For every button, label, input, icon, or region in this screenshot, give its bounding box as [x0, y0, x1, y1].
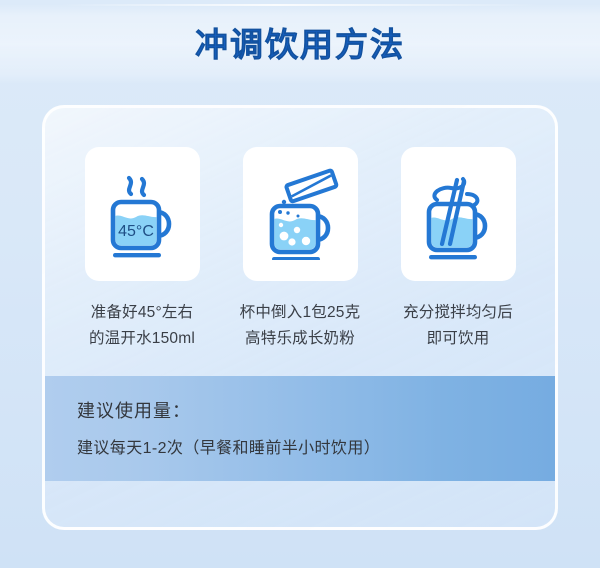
step-caption-3-line2: 即可饮用	[389, 326, 527, 352]
step-caption-1-line2: 的温开水150ml	[73, 326, 211, 352]
step-caption-3-line1: 充分搅拌均匀后	[389, 300, 527, 326]
recommended-dosage-title: 建议使用量：	[77, 396, 555, 426]
step-icon-card-3	[401, 147, 516, 281]
instructions-card: 45°C	[42, 105, 558, 530]
step-caption-1-line1: 准备好45°左右	[73, 300, 211, 326]
page-title: 冲调饮用方法	[0, 23, 600, 67]
promo-page: 冲调饮用方法	[0, 0, 600, 568]
sachet-pouring-into-mug-icon	[254, 168, 346, 260]
stirring-mug-icon	[415, 168, 501, 260]
mug-temperature-label: 45°C	[118, 223, 154, 240]
step-caption-row: 准备好45°左右 的温开水150ml 杯中倒入1包25克 高特乐成长奶粉 充分搅…	[45, 300, 555, 352]
recommended-dosage-detail: 建议每天1-2次（早餐和睡前半小时饮用）	[77, 436, 555, 462]
step-caption-2-line1: 杯中倒入1包25克	[231, 300, 369, 326]
step-caption-2-line2: 高特乐成长奶粉	[231, 326, 369, 352]
step-icon-card-2	[243, 147, 358, 281]
hot-mug-45c-icon: 45°C	[99, 168, 185, 260]
recommended-dosage-panel: 建议使用量： 建议每天1-2次（早餐和睡前半小时饮用）	[45, 376, 555, 481]
step-caption-2: 杯中倒入1包25克 高特乐成长奶粉	[231, 300, 369, 352]
step-icon-row: 45°C	[45, 147, 555, 281]
step-caption-3: 充分搅拌均匀后 即可饮用	[389, 300, 527, 352]
step-caption-1: 准备好45°左右 的温开水150ml	[73, 300, 211, 352]
step-icon-card-1: 45°C	[85, 147, 200, 281]
